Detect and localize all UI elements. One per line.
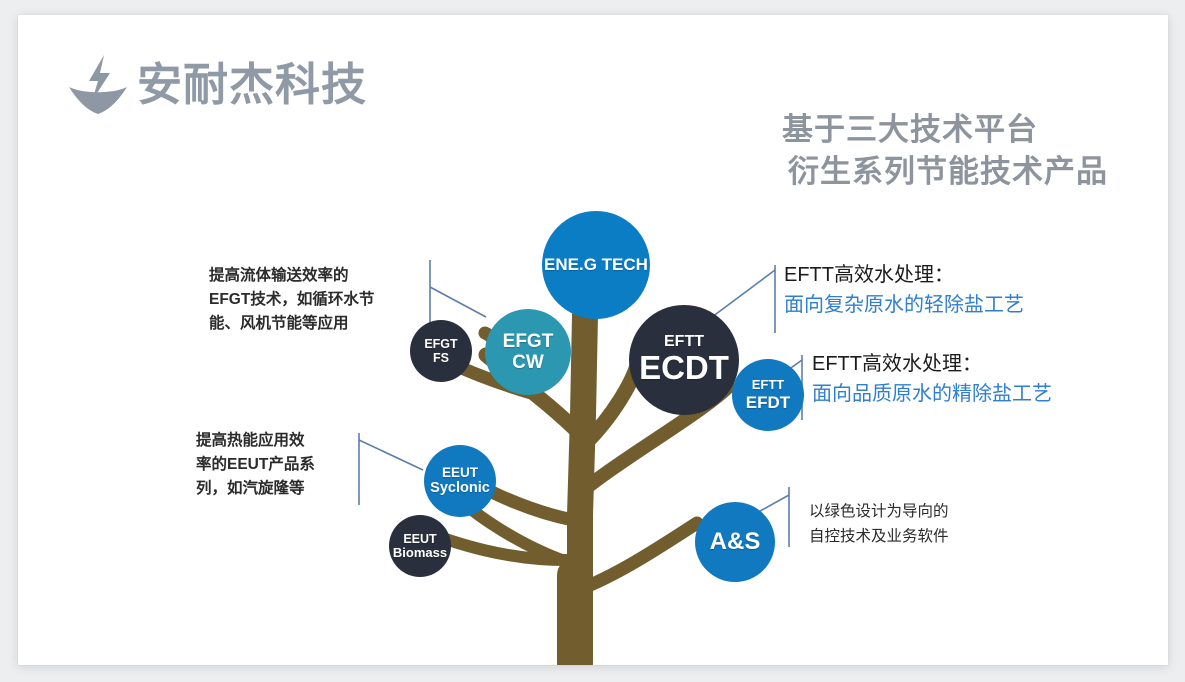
annotation-left-bottom-line3: 列，如汽旋隆等 <box>196 477 366 501</box>
node-efdt[interactable]: EFTT EFDT <box>732 359 804 431</box>
node-eneg-tech[interactable]: ENE.G TECH <box>542 211 650 319</box>
annotation-right-bottom-line1: 以绿色设计为导向的 <box>809 499 949 524</box>
node-eeut-syclonic[interactable]: EEUT Syclonic <box>424 445 496 517</box>
annotation-left-top-line1: 提高流体输送效率的 <box>209 264 424 288</box>
annotation-left-top-line2: EFGT技术，如循环水节 <box>209 288 424 312</box>
node-ecdt-label: ECDT <box>639 350 729 387</box>
leader-diagonal-left-bottom <box>359 440 423 470</box>
annotation-right-bottom-line2: 自控技术及业务软件 <box>809 524 949 549</box>
annotation-right-mid-sub: 面向品质原水的精除盐工艺 <box>812 379 1052 409</box>
annotation-left-top-line3: 能、风机节能等应用 <box>209 312 424 336</box>
node-ecdt-sublabel: EFTT <box>664 333 704 351</box>
node-efgt-cw-label: CW <box>512 352 544 373</box>
annotation-left-bottom-line2: 率的EEUT产品系 <box>196 453 366 477</box>
node-a-and-s-label: A&S <box>710 529 761 556</box>
annotation-right-bottom: 以绿色设计为导向的 自控技术及业务软件 <box>809 499 949 549</box>
node-eeut-syclonic-sublabel: EEUT <box>442 465 478 480</box>
annotation-right-mid: EFTT高效水处理： 面向品质原水的精除盐工艺 <box>812 349 1052 409</box>
tree-diagram <box>18 15 1168 665</box>
leader-diagonal-left-top <box>430 287 486 317</box>
annotation-right-mid-title: EFTT高效水处理： <box>812 349 1052 379</box>
node-eeut-biomass-label: Biomass <box>393 546 447 561</box>
node-a-and-s[interactable]: A&S <box>695 502 775 582</box>
node-ecdt[interactable]: EFTT ECDT <box>629 305 739 415</box>
node-efgt-cw[interactable]: EFGT CW <box>485 309 571 395</box>
node-efgt-fs-label: FS <box>433 351 449 365</box>
node-efgt-fs-sublabel: EFGT <box>424 337 457 351</box>
node-eeut-syclonic-label: Syclonic <box>430 480 490 496</box>
node-efgt-cw-sublabel: EFGT <box>503 331 554 352</box>
node-eneg-tech-label: ENE.G TECH <box>544 255 648 274</box>
annotation-right-top-sub: 面向复杂原水的轻除盐工艺 <box>784 290 1024 320</box>
slide-root: 安耐杰科技 基于三大技术平台 衍生系列节能技术产品 <box>0 0 1185 682</box>
annotation-left-bottom: 提高热能应用效 率的EEUT产品系 列，如汽旋隆等 <box>196 429 366 501</box>
node-efdt-sublabel: EFTT <box>752 378 785 393</box>
node-eeut-biomass[interactable]: EEUT Biomass <box>389 515 451 577</box>
leader-diagonal-right-top <box>708 270 775 320</box>
node-efdt-label: EFDT <box>746 393 790 412</box>
node-eeut-biomass-sublabel: EEUT <box>403 532 436 546</box>
annotation-left-bottom-line1: 提高热能应用效 <box>196 429 366 453</box>
slide-card: 安耐杰科技 基于三大技术平台 衍生系列节能技术产品 <box>18 15 1168 665</box>
annotation-right-top-title: EFTT高效水处理： <box>784 260 1024 290</box>
annotation-left-top: 提高流体输送效率的 EFGT技术，如循环水节 能、风机节能等应用 <box>209 264 424 336</box>
annotation-right-top: EFTT高效水处理： 面向复杂原水的轻除盐工艺 <box>784 260 1024 320</box>
